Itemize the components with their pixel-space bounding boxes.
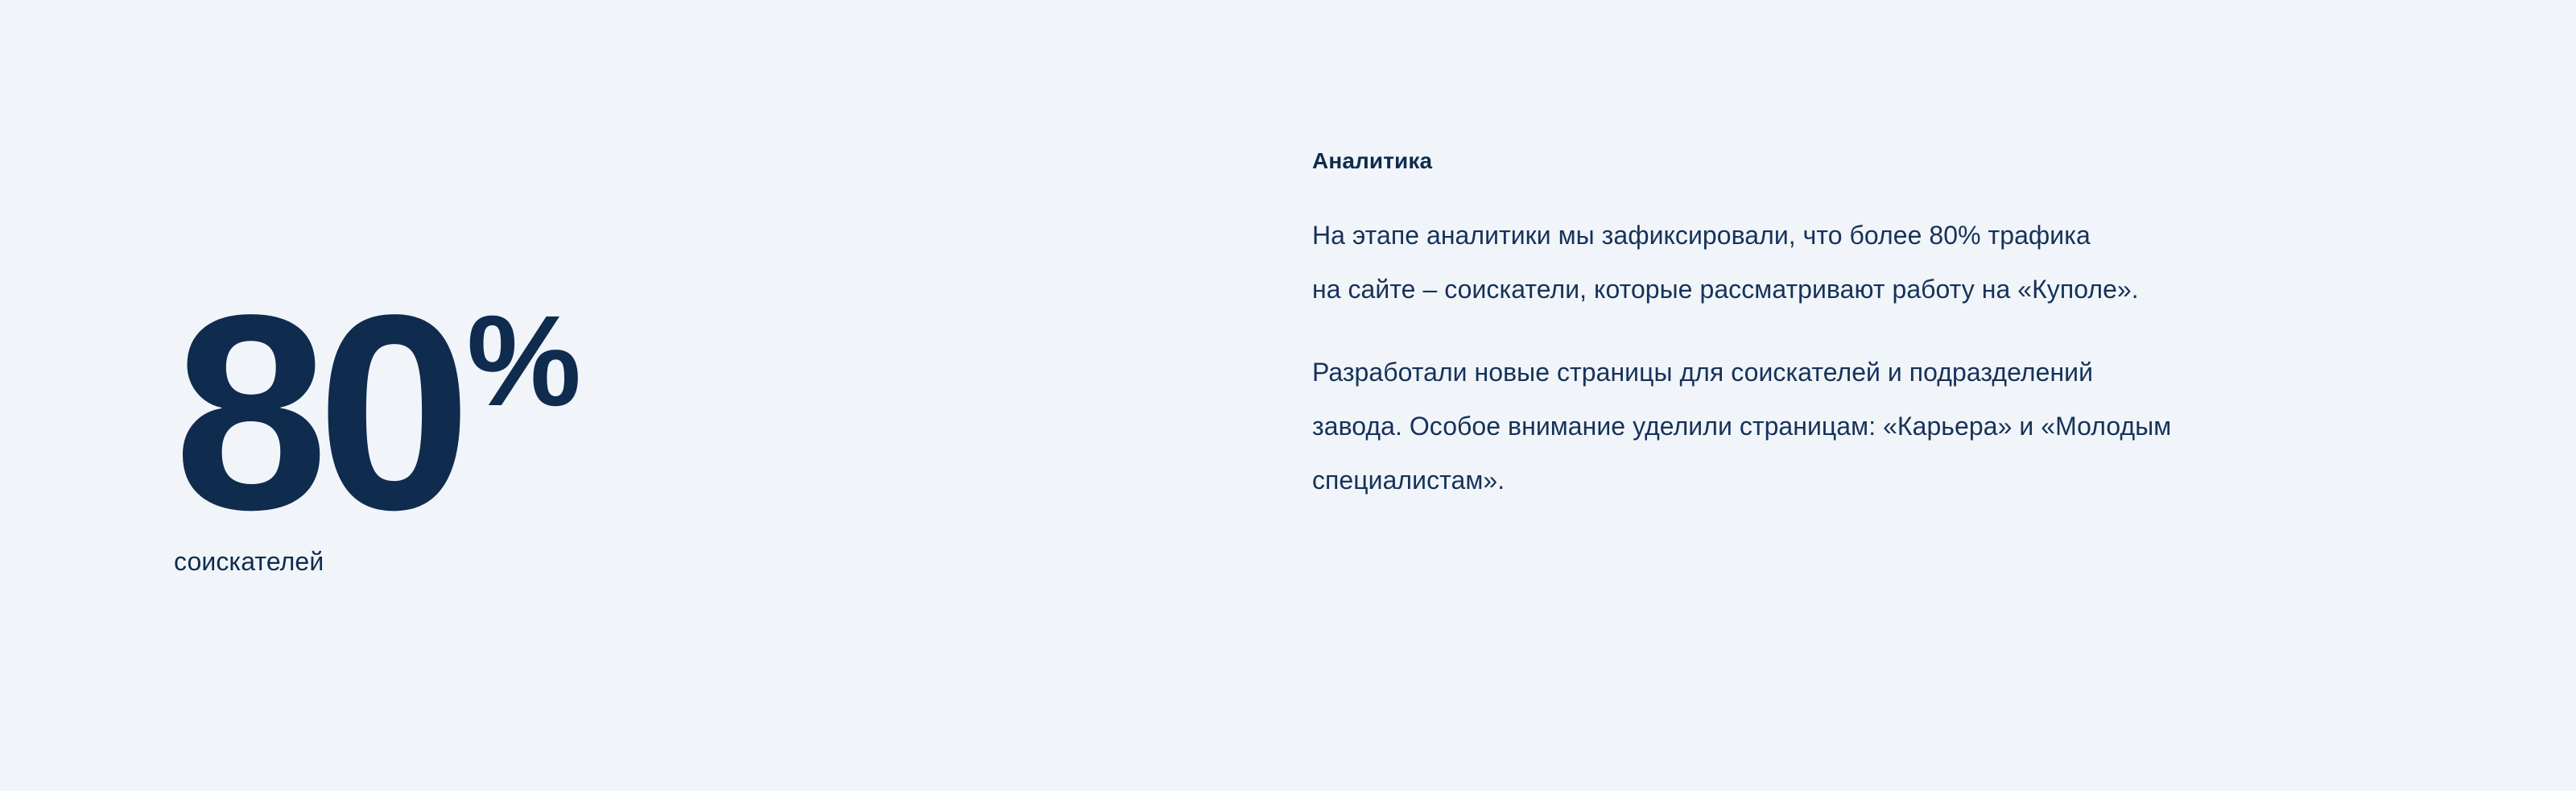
copy-block: Аналитика На этапе аналитики мы зафиксир… xyxy=(1312,147,2439,507)
paragraph-line: на сайте – соискатели, которые рассматри… xyxy=(1312,263,2415,317)
paragraph-line: специалистам». xyxy=(1312,453,2415,507)
statistic-caption: соискателей xyxy=(174,546,1140,577)
paragraph-line: Разработали новые страницы для соискател… xyxy=(1312,346,2415,400)
statistic-number: 80 xyxy=(174,304,460,521)
percent-symbol: % xyxy=(467,296,578,425)
body-paragraph: Разработали новые страницы для соискател… xyxy=(1312,346,2415,507)
slide-root: 80% соискателей Аналитика На этапе анали… xyxy=(0,0,2576,791)
statistic-figure: 80% xyxy=(174,304,1140,528)
paragraph-line: завода. Особое внимание уделили страница… xyxy=(1312,400,2415,453)
statistic-block: 80% соискателей xyxy=(174,304,1140,577)
section-heading: Аналитика xyxy=(1312,147,2439,175)
paragraph-line: На этапе аналитики мы зафиксировали, что… xyxy=(1312,209,2415,263)
body-paragraph: На этапе аналитики мы зафиксировали, что… xyxy=(1312,209,2415,317)
